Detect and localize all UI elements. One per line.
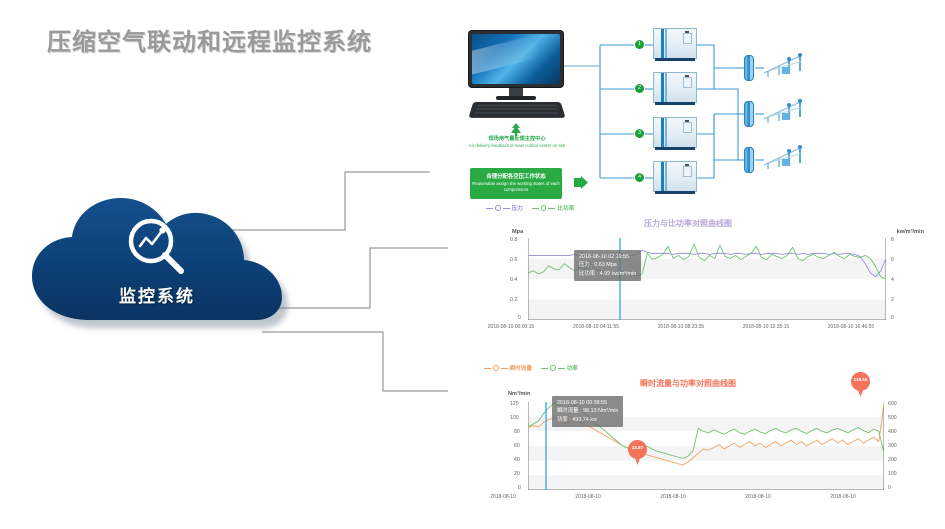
chart1-ytick-4: 0: [518, 315, 521, 321]
chart1-tooltip-time: 2018-08-10 02:19:55: [579, 253, 636, 261]
chart2-xtick-1-text: 2018-08-10: [575, 494, 601, 500]
system-diagram-panel: 现场用气量反馈主控中心 Air delivery feedback of mai…: [448, 18, 928, 200]
chart1-legend-label-0: 压力: [512, 204, 523, 212]
chart2-tooltip-line2: 功率 : 493.74 kw: [557, 416, 618, 424]
chart2-marker-max[interactable]: 118.55: [851, 372, 870, 398]
chart2-xtick-4: 2018-08-10: [798, 494, 888, 501]
connector-to-chart1: [272, 248, 470, 308]
chart2-tooltip-time: 2018-08-10 00:38:55: [557, 399, 618, 407]
chart2-y2tick-4: 200: [888, 457, 897, 463]
air-compressor-4[interactable]: [653, 161, 697, 195]
chart2-legend-label-1: 功率: [567, 364, 578, 372]
chart2-xtick-2-text: 2018-08-10: [660, 494, 686, 500]
chart2-xtick-3-text: 2018-08-10: [745, 494, 771, 500]
chart2-marker-min-value: 33.87: [628, 445, 647, 450]
chart2-marker-max-value: 118.55: [851, 377, 870, 382]
chart2-y2tick-6: 0: [888, 485, 891, 491]
chart1-tooltip: 2018-08-10 02:19:55 压力 : 0.63 Mpa 比功率 : …: [574, 250, 641, 281]
chart2-y-unit: Nm³/min: [508, 391, 530, 397]
chart1-y-unit: Mpa: [512, 229, 523, 235]
air-tank-3: [744, 147, 754, 173]
chart2-ytick-0: 120: [510, 401, 519, 407]
pipe-node-4[interactable]: 4: [635, 173, 644, 182]
connector-to-chart2: [262, 332, 470, 391]
chart2-tooltip-line1: 瞬时流量 : 98.13 Nm³/min: [557, 407, 618, 415]
chart2-xtick-2: 2018-08-10: [628, 494, 718, 501]
chart2-xtick-0: 2018-08-10: [458, 494, 548, 501]
distribution-rig-1: [762, 51, 806, 79]
chart1-xtick-2-text: 2018-08-10 08:23:35: [658, 324, 704, 330]
chart2-y2tick-2: 400: [888, 429, 897, 435]
pipe-node-3[interactable]: 3: [635, 129, 644, 138]
magnifier-chart-icon: [124, 214, 190, 280]
chart1-ytick-2: 0.4: [510, 277, 517, 283]
chart1-ytick-0: 0.8: [510, 237, 517, 243]
pipe-node-2[interactable]: 2: [635, 84, 644, 93]
chart1-legend-item-0[interactable]: 压力: [486, 204, 523, 212]
chart1-y2tick-2: 4: [891, 277, 894, 283]
chart1-y2tick-0: 8: [891, 237, 894, 243]
chart1-y2-unit: kw/m³/min: [897, 229, 924, 235]
chart2-legend-item-0[interactable]: 瞬时流量: [484, 364, 532, 372]
chart2-xtick-4-text: 2018-08-10: [830, 494, 856, 500]
distribution-rig-3: [762, 143, 806, 171]
chart2-y2tick-1: 500: [888, 415, 897, 421]
chart2-ytick-3: 60: [514, 443, 520, 449]
chart1-legend-item-1[interactable]: 比功率: [532, 204, 574, 212]
chart1-y2tick-1: 6: [891, 257, 894, 263]
cloud-label: 监控系统: [28, 282, 286, 307]
chart1-ytick-1: 0.6: [510, 257, 517, 263]
chart2-marker-min[interactable]: 33.87: [628, 440, 647, 466]
chart2-ytick-5: 20: [514, 471, 520, 477]
chart1-xtick-4-text: 2018-08-10 16:46:55: [828, 324, 874, 330]
chart1-xtick-0-text: 2018-08-10 00:00:15: [488, 324, 534, 330]
page-title: 压缩空气联动和远程监控系统: [47, 22, 372, 57]
chart2-ytick-1: 100: [510, 415, 519, 421]
pressure-chart[interactable]: 压力 比功率 压力与比功率对照曲线图 Mpa kw/m³/min 0.8 0.6…: [448, 200, 928, 340]
air-compressor-2[interactable]: [653, 72, 697, 106]
chart2-legend-label-0: 瞬时流量: [510, 364, 532, 372]
chart1-y2tick-4: 0: [891, 315, 894, 321]
chart2-y2tick-3: 300: [888, 443, 897, 449]
chart2-tooltip: 2018-08-10 00:38:55 瞬时流量 : 98.13 Nm³/min…: [552, 396, 623, 427]
chart2-y2tick-5: 100: [888, 471, 897, 477]
chart2-ytick-2: 80: [514, 429, 520, 435]
chart1-legend-label-1: 比功率: [557, 204, 574, 212]
chart2-legend-item-1[interactable]: 功率: [541, 364, 578, 372]
chart1-xtick-3-text: 2018-08-10 12:35:15: [743, 324, 789, 330]
chart2-xtick-1: 2018-08-10: [543, 494, 633, 501]
pipe-node-1[interactable]: 1: [635, 40, 644, 49]
air-compressor-3[interactable]: [653, 117, 697, 151]
air-compressor-1[interactable]: [653, 28, 697, 62]
monitoring-cloud[interactable]: 监控系统: [28, 196, 296, 332]
chart1-xtick-4: 2018-08-10 16:46:55: [796, 324, 906, 331]
chart2-legend[interactable]: 瞬时流量 功率: [484, 364, 578, 372]
chart1-tooltip-line1: 压力 : 0.63 Mpa: [579, 261, 636, 269]
chart2-ytick-6: 0: [518, 485, 521, 491]
chart2-xtick-3: 2018-08-10: [713, 494, 803, 501]
chart2-xtick-0-text: 2018-08-10: [490, 494, 516, 500]
chart1-title: 压力与比功率对照曲线图: [448, 218, 928, 229]
chart1-tooltip-line2: 比功率 : 4.99 kw/m³/min: [579, 270, 636, 278]
air-tank-1: [744, 55, 754, 81]
chart1-y2tick-3: 2: [891, 297, 894, 303]
chart1-legend[interactable]: 压力 比功率: [486, 204, 574, 212]
distribution-rig-2: [762, 97, 806, 125]
flow-power-chart[interactable]: 瞬时流量 功率 瞬时流量与功率对照曲线图 Nm³/min 120 100 80 …: [448, 360, 928, 520]
chart1-xtick-1-text: 2018-08-10 04:11:55: [573, 324, 619, 330]
chart1-ytick-3: 0.2: [510, 297, 517, 303]
chart2-ytick-4: 40: [514, 457, 520, 463]
air-tank-2: [744, 101, 754, 127]
chart2-y2tick-0: 600: [888, 401, 897, 407]
